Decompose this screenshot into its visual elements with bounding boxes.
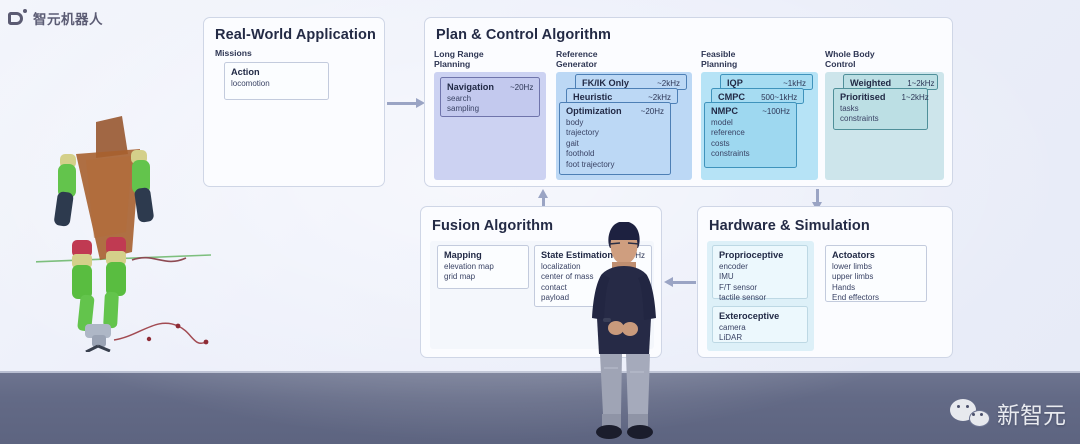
card-title: IQP xyxy=(727,78,743,88)
card-title: Actoators xyxy=(832,250,875,260)
card-frequency: 500~1kHz xyxy=(753,93,797,102)
card-title: Optimization xyxy=(566,106,622,116)
card-optimization[interactable]: Optimization ~20Hz body trajectory gait … xyxy=(559,102,671,175)
card-proprioceptive[interactable]: Proprioceptive encoder IMU F/T sensor ta… xyxy=(712,245,808,299)
watermark-name: 新智元 xyxy=(997,396,1066,430)
architecture-diagram: Real-World Application Missions Action l… xyxy=(0,0,1080,373)
column-label-whole-body-control: Whole Body Control xyxy=(825,49,875,70)
card-frequency: ~20Hz xyxy=(502,83,533,92)
panel-title: Real-World Application xyxy=(215,27,376,43)
panel-title: Plan & Control Algorithm xyxy=(436,27,611,43)
card-title: Exteroceptive xyxy=(719,311,779,321)
card-frequency: 1~2kHz xyxy=(899,79,934,88)
presenter-person xyxy=(578,222,674,444)
card-prioritised[interactable]: Prioritised 1~2kHz tasks constraints xyxy=(833,88,928,130)
card-frequency: ~2kHz xyxy=(640,93,671,102)
card-items: tasks constraints xyxy=(840,104,921,125)
section-label-missions: Missions xyxy=(215,48,252,58)
wechat-icon xyxy=(950,399,990,427)
card-title: Weighted xyxy=(850,78,891,88)
card-action[interactable]: Action locomotion xyxy=(224,62,329,100)
card-title: Heuristic xyxy=(573,92,612,102)
card-items: lower limbs upper limbs Hands End effect… xyxy=(832,262,920,304)
card-items: body trajectory gait foothold foot traje… xyxy=(566,118,664,170)
card-frequency: 1~2kHz xyxy=(893,93,928,102)
card-title: CMPC xyxy=(718,92,745,102)
column-label-long-range-planning: Long Range Planning xyxy=(434,49,484,70)
card-items: search sampling xyxy=(447,94,533,115)
card-frequency: ~20Hz xyxy=(633,107,664,116)
card-title: Prioritised xyxy=(840,92,885,102)
card-nmpc[interactable]: NMPC ~100Hz model reference costs constr… xyxy=(704,102,797,168)
card-title: Navigation xyxy=(447,82,494,92)
stage-floor xyxy=(0,373,1080,444)
card-frequency: ~1kHz xyxy=(775,79,806,88)
card-navigation[interactable]: Navigation ~20Hz search sampling xyxy=(440,77,540,117)
card-title: Mapping xyxy=(444,250,482,260)
panel-plan-control-algorithm: Plan & Control Algorithm Long Range Plan… xyxy=(424,17,953,187)
card-frequency: ~100Hz xyxy=(754,107,790,116)
card-items: model reference costs constraints xyxy=(711,118,790,160)
card-title: Action xyxy=(231,67,260,77)
card-title: FK/IK Only xyxy=(582,78,629,88)
card-items: camera LiDAR xyxy=(719,323,801,344)
arrow-application-to-plan xyxy=(387,98,425,109)
panel-title: Hardware & Simulation xyxy=(709,218,870,234)
wechat-watermark: 新智元 xyxy=(950,396,1066,430)
card-title: Proprioceptive xyxy=(719,250,783,260)
column-label-feasible-planning: Feasible Planning xyxy=(701,49,737,70)
card-exteroceptive[interactable]: Exteroceptive camera LiDAR xyxy=(712,306,808,343)
column-label-reference-generator: Reference Generator xyxy=(556,49,598,70)
card-items: elevation map grid map xyxy=(444,262,522,283)
panel-hardware-simulation: Hardware & Simulation Proprioceptive enc… xyxy=(697,206,953,358)
panel-real-world-application: Real-World Application Missions Action l… xyxy=(203,17,385,187)
card-actoators[interactable]: Actoators lower limbs upper limbs Hands … xyxy=(825,245,927,302)
card-items: locomotion xyxy=(231,79,322,89)
card-items: encoder IMU F/T sensor tactile sensor xyxy=(719,262,801,304)
panel-title: Fusion Algorithm xyxy=(432,218,553,234)
card-mapping[interactable]: Mapping elevation map grid map xyxy=(437,245,529,289)
card-title: NMPC xyxy=(711,106,738,116)
card-frequency: ~2kHz xyxy=(649,79,680,88)
